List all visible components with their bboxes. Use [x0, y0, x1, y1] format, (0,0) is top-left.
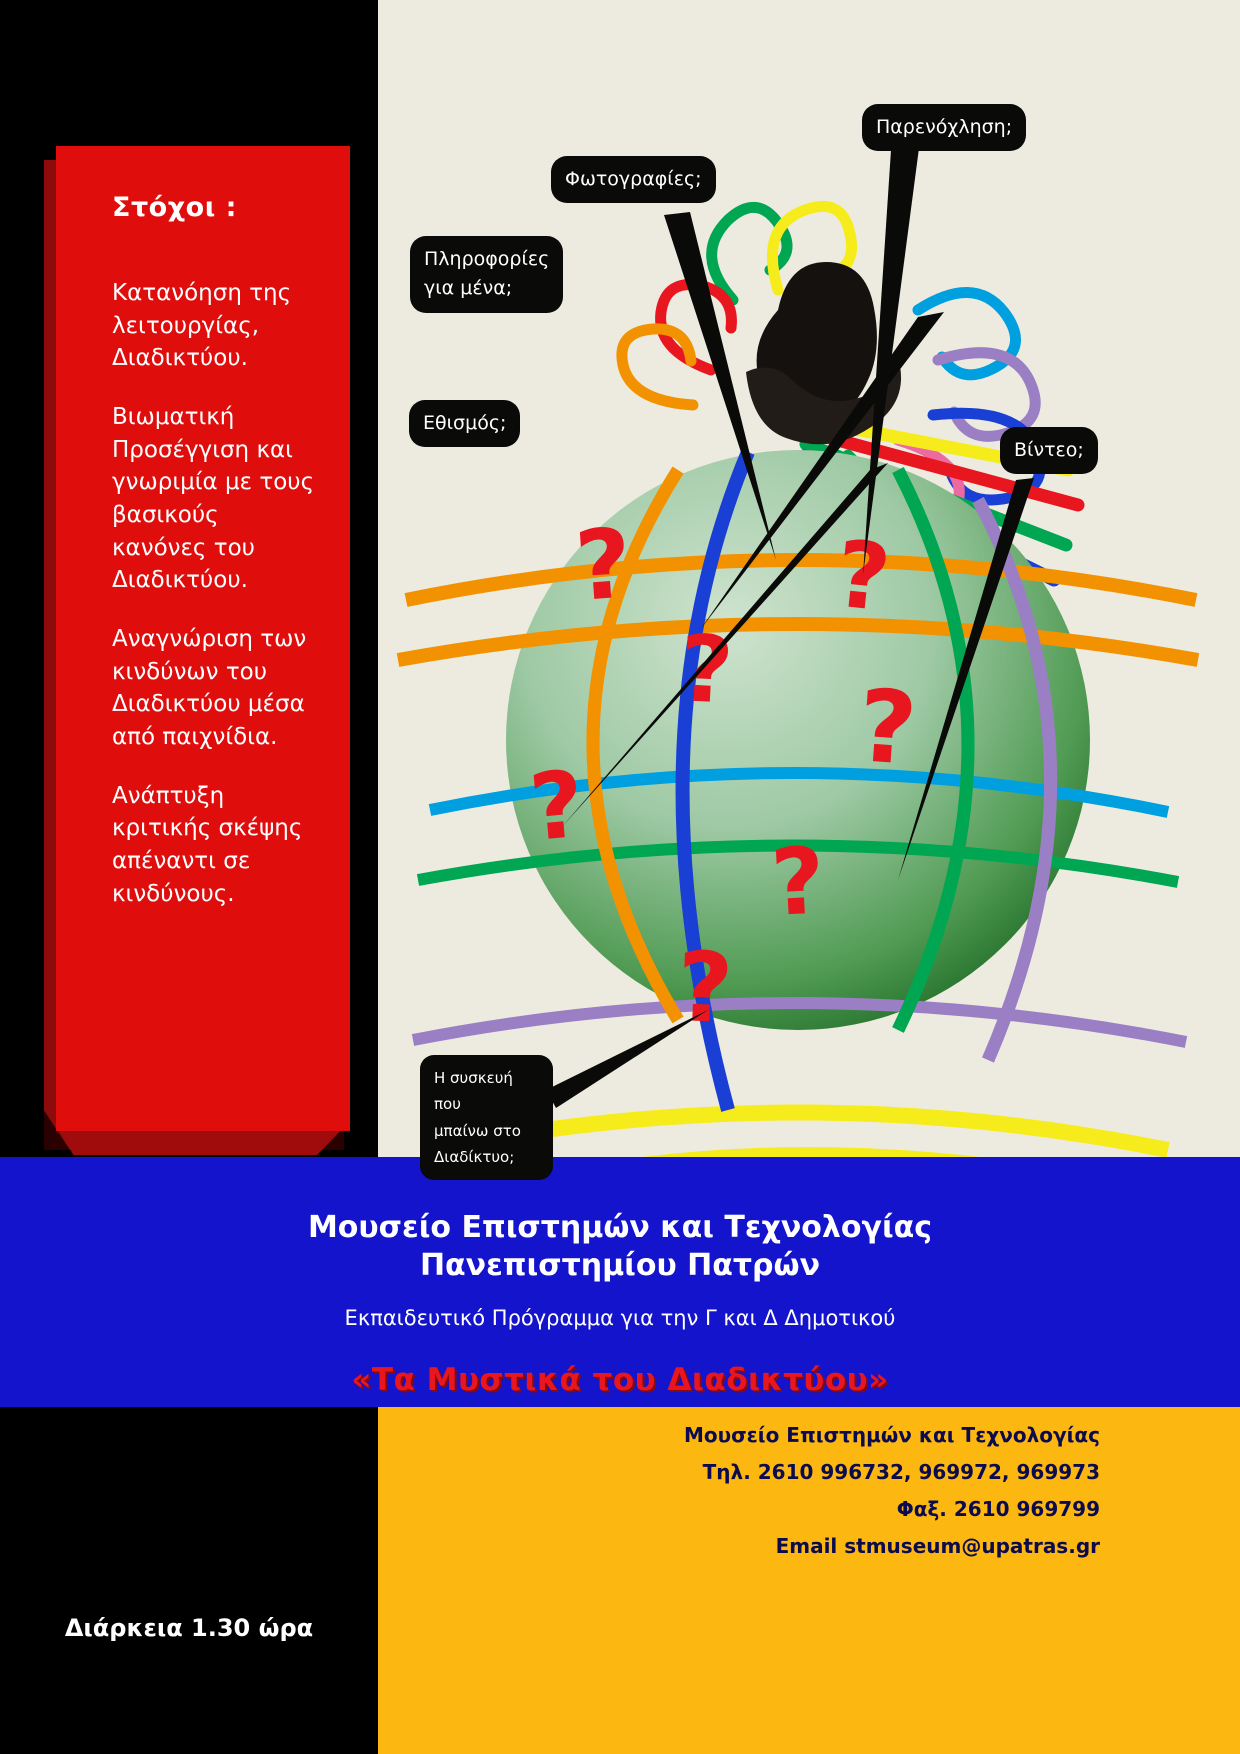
objective-item-4: Ανάπτυξη κριτικής σκέψης απέναντι σε κιν… — [112, 780, 320, 911]
bubble-harassment: Παρενόχληση; — [862, 104, 1026, 151]
bubble-info-about-me: Πληροφορίες για μένα; — [410, 236, 563, 313]
svg-text:?: ? — [572, 507, 635, 623]
svg-text:?: ? — [769, 827, 828, 937]
program-title: «Τα Μυστικά του Διαδικτύου» — [0, 1362, 1240, 1398]
svg-text:?: ? — [677, 615, 736, 725]
bubble-device: Η συσκευή που μπαίνω στο Διαδίκτυο; — [420, 1055, 553, 1180]
poster-root: ? ? ? ? ? ? ? Στόχοι : Κατανόηση της — [0, 0, 1240, 1754]
globe-svg: ? ? ? ? ? ? ? — [378, 0, 1240, 1157]
bubble-video: Βίντεο; — [1000, 427, 1098, 474]
contact-line-4[interactable]: Email stmuseum@upatras.gr — [378, 1528, 1100, 1565]
tail-device — [546, 1010, 708, 1108]
program-description: Εκπαιδευτικό Πρόγραμμα για την Γ και Δ Δ… — [0, 1306, 1240, 1330]
objective-item-3: Αναγνώριση των κινδύνων του Διαδικτύου μ… — [112, 623, 320, 754]
organization-band: Μουσείο Επιστημών και Τεχνολογίας Πανεπι… — [0, 1157, 1240, 1407]
bubble-addiction: Εθισμός; — [409, 400, 520, 447]
contact-block: Μουσείο Επιστημών και Τεχνολογίας Τηλ. 2… — [378, 1407, 1240, 1754]
objective-item-2: Βιωματική Προσέγγιση και γνωριμία με του… — [112, 401, 320, 597]
svg-text:?: ? — [831, 520, 895, 632]
svg-text:?: ? — [675, 931, 735, 1045]
objective-item-1: Κατανόηση της λειτουργίας, Διαδικτύου. — [112, 277, 320, 375]
contact-line-3: Φαξ. 2610 969799 — [378, 1491, 1100, 1528]
globe-artwork: ? ? ? ? ? ? ? — [378, 0, 1240, 1157]
organization-line2: Πανεπιστημίου Πατρών — [0, 1247, 1240, 1285]
contact-line-1: Μουσείο Επιστημών και Τεχνολογίας — [378, 1417, 1100, 1454]
contact-line-2: Τηλ. 2610 996732, 969972, 969973 — [378, 1454, 1100, 1491]
bubble-photos: Φωτογραφίες; — [551, 156, 716, 203]
objectives-title: Στόχοι : — [112, 192, 320, 223]
duration-label: Διάρκεια 1.30 ώρα — [0, 1407, 378, 1754]
objectives-box: Στόχοι : Κατανόηση της λειτουργίας, Διαδ… — [56, 146, 350, 1131]
svg-text:?: ? — [526, 751, 588, 862]
organization-line1: Μουσείο Επιστημών και Τεχνολογίας — [0, 1157, 1240, 1247]
svg-text:?: ? — [854, 667, 920, 788]
